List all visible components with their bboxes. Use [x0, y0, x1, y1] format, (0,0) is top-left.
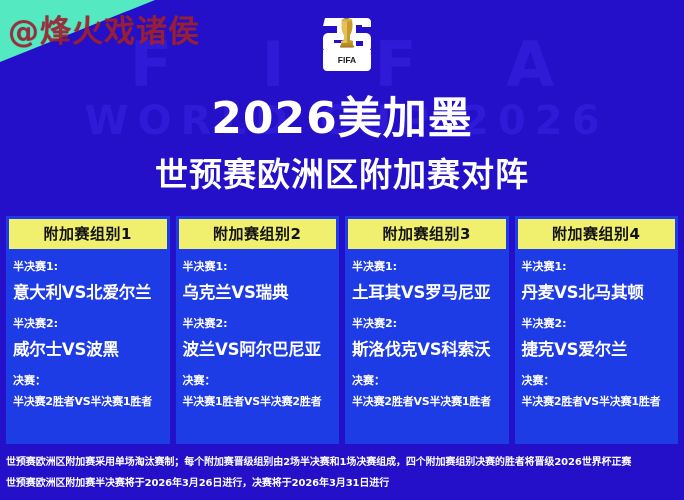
semifinal-1-match: 乌克兰VS瑞典 — [183, 279, 333, 303]
group-body-2: 半决赛1: 乌克兰VS瑞典 半决赛2: 波兰VS阿尔巴尼亚 决赛： 半决赛1胜者… — [176, 249, 340, 440]
semifinal-1-match: 丹麦VS北马其顿 — [522, 279, 672, 303]
spacer — [13, 409, 163, 440]
semifinal-2-label: 半决赛2: — [13, 315, 163, 331]
final-match: 半决赛2胜者VS半决赛1胜者 — [522, 393, 672, 409]
page-subtitle: 世预赛欧洲区附加赛对阵 — [0, 148, 684, 196]
fifa-wordmark-text: FIFA — [338, 55, 356, 65]
group-header-3: 附加赛组别3 — [348, 219, 506, 249]
final-match: 半决赛2胜者VS半决赛1胜者 — [13, 393, 163, 409]
group-body-4: 半决赛1: 丹麦VS北马其顿 半决赛2: 捷克VS爱尔兰 决赛： 半决赛2胜者V… — [515, 249, 679, 440]
spacer — [183, 409, 333, 440]
semifinal-2-match: 波兰VS阿尔巴尼亚 — [183, 336, 333, 360]
group-card-4: 附加赛组别4 半决赛1: 丹麦VS北马其顿 半决赛2: 捷克VS爱尔兰 决赛： … — [515, 216, 679, 444]
semifinal-1-match: 土耳其VS罗马尼亚 — [352, 279, 502, 303]
poster-root: F I F A WORLD CUP 2026 @烽火戏诸侯 — [0, 0, 684, 500]
semifinal-1-label: 半决赛1: — [522, 258, 672, 274]
group-card-3: 附加赛组别3 半决赛1: 土耳其VS罗马尼亚 半决赛2: 斯洛伐克VS科索沃 决… — [345, 216, 509, 444]
group-card-1: 附加赛组别1 半决赛1: 意大利VS北爱尔兰 半决赛2: 威尔士VS波黑 决赛：… — [6, 216, 170, 444]
group-body-1: 半决赛1: 意大利VS北爱尔兰 半决赛2: 威尔士VS波黑 决赛： 半决赛2胜者… — [6, 249, 170, 440]
final-label: 决赛： — [352, 372, 502, 388]
fifa-world-cup-2026-logo-icon: FIFA — [322, 10, 372, 77]
final-match: 半决赛2胜者VS半决赛1胜者 — [352, 393, 502, 409]
footer-notes: 世预赛欧洲区附加赛采用单场淘汰赛制；每个附加赛晋级组别由2场半决赛和1场决赛组成… — [0, 446, 684, 500]
group-columns-container: 附加赛组别1 半决赛1: 意大利VS北爱尔兰 半决赛2: 威尔士VS波黑 决赛：… — [6, 216, 678, 444]
final-label: 决赛： — [183, 372, 333, 388]
page-title: 2026美加墨 — [0, 82, 684, 146]
group-header-4: 附加赛组别4 — [518, 219, 676, 249]
semifinal-1-label: 半决赛1: — [13, 258, 163, 274]
semifinal-2-match: 威尔士VS波黑 — [13, 336, 163, 360]
group-header-1: 附加赛组别1 — [9, 219, 167, 249]
final-label: 决赛： — [13, 372, 163, 388]
spacer — [352, 409, 502, 440]
semifinal-2-label: 半决赛2: — [183, 315, 333, 331]
semifinal-1-match: 意大利VS北爱尔兰 — [13, 279, 163, 303]
semifinal-2-label: 半决赛2: — [522, 315, 672, 331]
group-body-3: 半决赛1: 土耳其VS罗马尼亚 半决赛2: 斯洛伐克VS科索沃 决赛： 半决赛2… — [345, 249, 509, 440]
final-label: 决赛： — [522, 372, 672, 388]
footer-line-dates: 世预赛欧洲区附加赛半决赛将于2026年3月26日进行，决赛将于2026年3月31… — [6, 473, 678, 494]
semifinal-1-label: 半决赛1: — [183, 258, 333, 274]
channel-watermark-text: @烽火戏诸侯 — [8, 6, 200, 51]
semifinal-2-label: 半决赛2: — [352, 315, 502, 331]
final-match: 半决赛1胜者VS半决赛2胜者 — [183, 393, 333, 409]
footer-line-format: 世预赛欧洲区附加赛采用单场淘汰赛制；每个附加赛晋级组别由2场半决赛和1场决赛组成… — [6, 452, 678, 473]
semifinal-2-match: 斯洛伐克VS科索沃 — [352, 336, 502, 360]
group-card-2: 附加赛组别2 半决赛1: 乌克兰VS瑞典 半决赛2: 波兰VS阿尔巴尼亚 决赛：… — [176, 216, 340, 444]
group-header-2: 附加赛组别2 — [179, 219, 337, 249]
semifinal-2-match: 捷克VS爱尔兰 — [522, 336, 672, 360]
semifinal-1-label: 半决赛1: — [352, 258, 502, 274]
spacer — [522, 409, 672, 440]
